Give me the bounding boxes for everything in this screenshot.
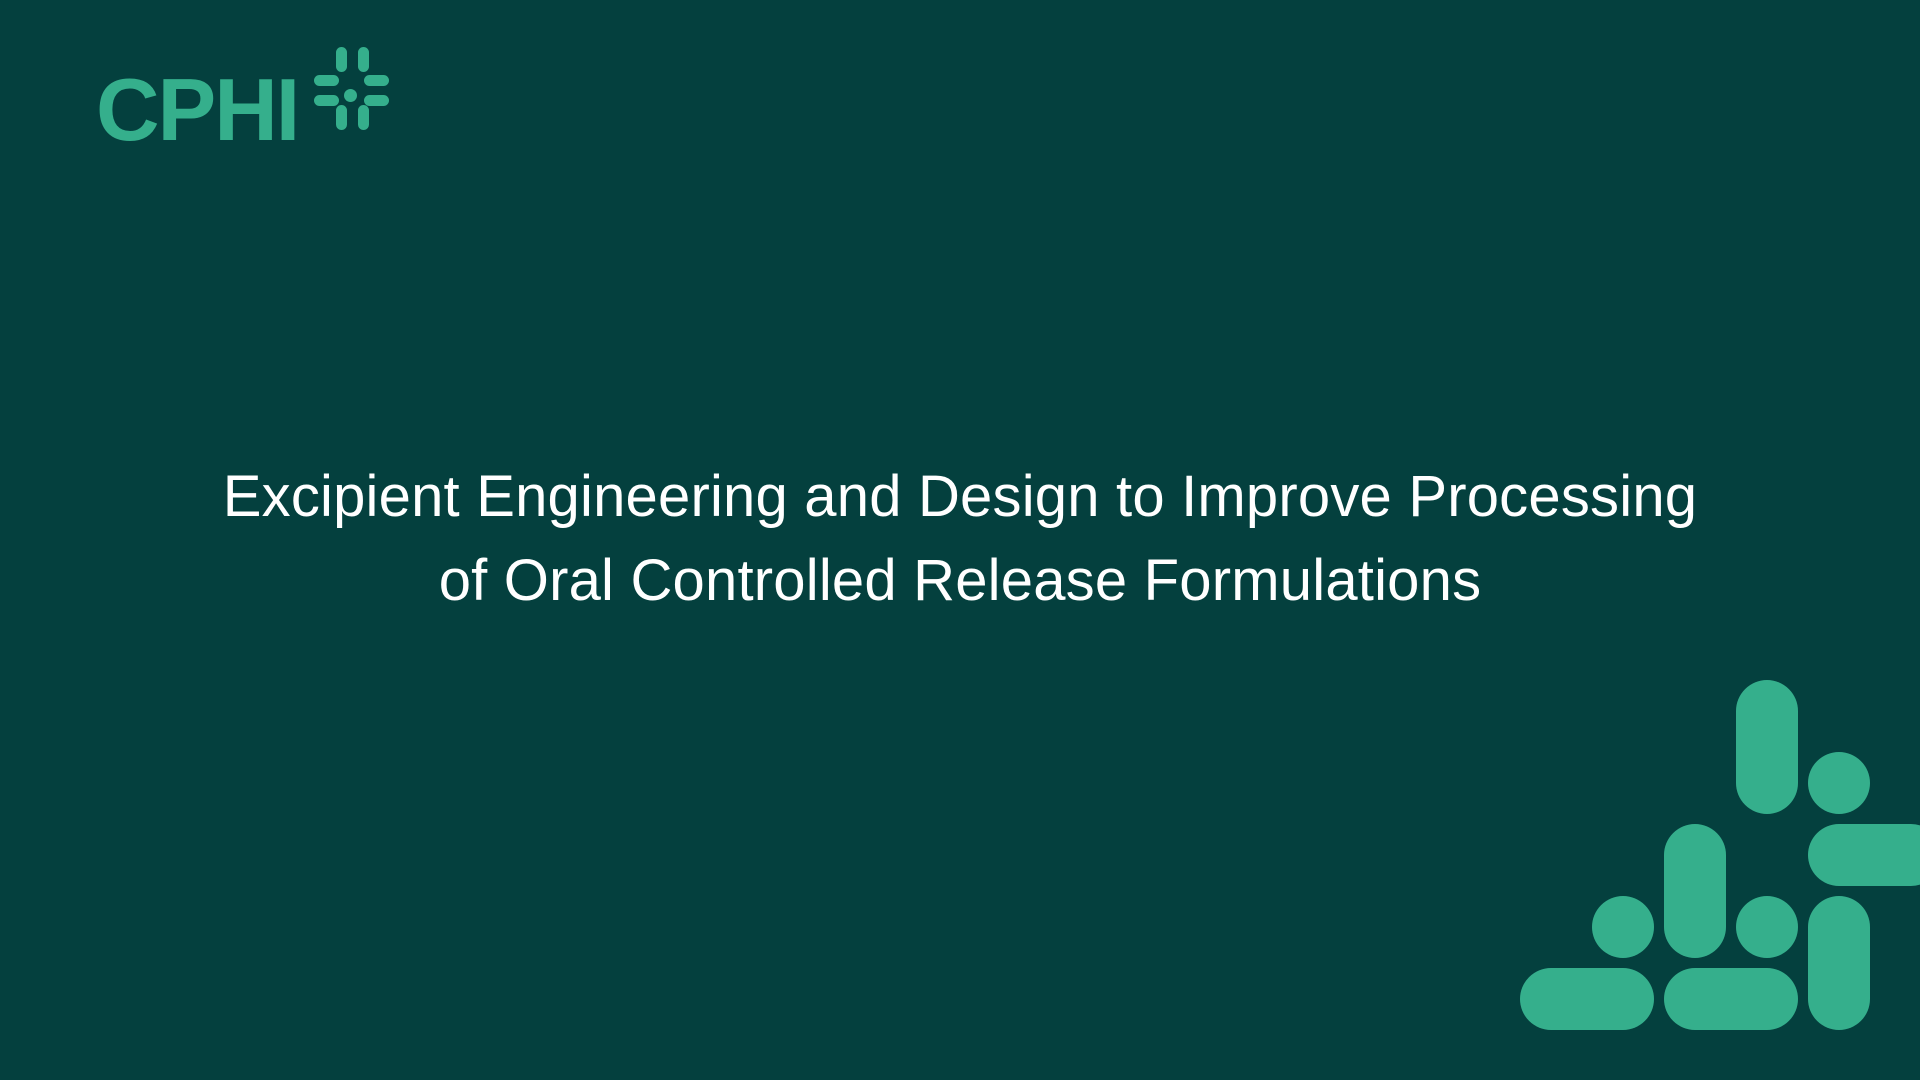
pill-wide-c2-r4	[1664, 968, 1798, 1030]
pill-wide-c4-r2	[1808, 824, 1920, 886]
pill-top-right	[358, 47, 369, 72]
cphi-starburst-icon	[314, 45, 386, 141]
page-title: Excipient Engineering and Design to Impr…	[0, 455, 1920, 623]
cphi-logo[interactable]: CPHI	[96, 50, 386, 170]
pill-right-top	[364, 75, 389, 86]
pill-top-left	[336, 47, 347, 72]
pill-bottom-right	[358, 105, 369, 130]
circle-c3-r3	[1736, 896, 1798, 958]
title-line-1: Excipient Engineering and Design to Impr…	[180, 455, 1740, 539]
pill-left-top	[314, 75, 339, 86]
cphi-wordmark: CPHI	[96, 66, 298, 154]
circle-c1-r3	[1592, 896, 1654, 958]
pill-mosaic-graphic	[1520, 680, 1920, 1080]
center-dot	[344, 89, 357, 102]
pill-right-bottom	[364, 95, 389, 106]
pill-tall-c4-r3	[1808, 896, 1870, 1030]
pill-tall-c3-r0	[1736, 680, 1798, 814]
title-slide: CPHI Excipient Engineering and Design to…	[0, 0, 1920, 1080]
pill-bottom-left	[336, 105, 347, 130]
pill-wide-c0-r4	[1520, 968, 1654, 1030]
circle-c4-r1	[1808, 752, 1870, 814]
title-line-2: of Oral Controlled Release Formulations	[180, 539, 1740, 623]
pill-tall-c2-r2	[1664, 824, 1726, 958]
pill-left-bottom	[314, 95, 339, 106]
